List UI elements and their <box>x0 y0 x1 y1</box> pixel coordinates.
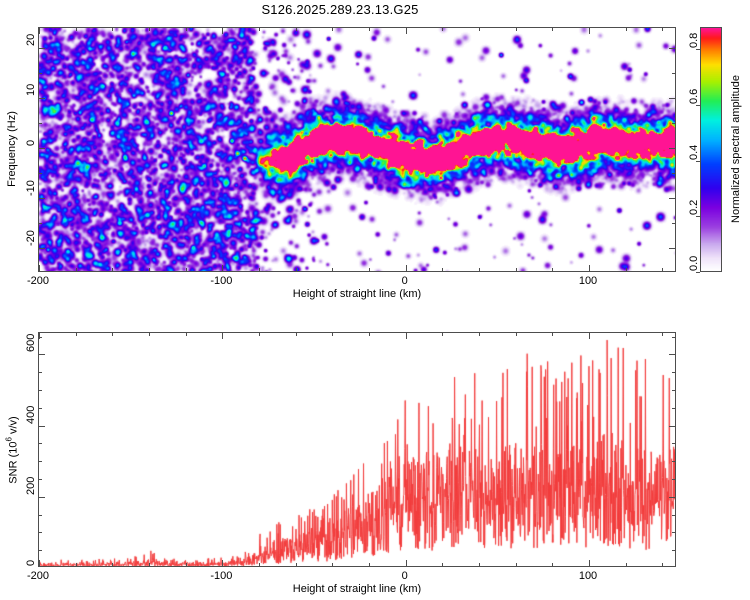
snr-y-axis-title-prefix: SNR (10 <box>7 442 19 484</box>
spectrogram-canvas <box>39 28 676 272</box>
snr-x-tick-label: 100 <box>579 570 597 582</box>
snr-x-tick-label: -200 <box>27 570 49 582</box>
spectrogram-x-tick-label: 0 <box>402 275 408 287</box>
figure-root: S126.2025.289.23.13.G25 -200-1000100 -20… <box>0 0 750 600</box>
figure-title: S126.2025.289.23.13.G25 <box>0 2 680 17</box>
spectrogram-x-axis-title: Height of straight line (km) <box>293 288 421 300</box>
snr-y-axis-title-exponent: 6 <box>5 437 14 441</box>
spectrogram-x-tick-label: -100 <box>210 275 232 287</box>
colorbar <box>700 27 722 272</box>
colorbar-tick <box>696 216 700 217</box>
snr-x-tick-label: 0 <box>402 570 408 582</box>
spectrogram-panel <box>38 27 676 272</box>
colorbar-tick <box>696 161 700 162</box>
spectrogram-x-tick-label: -200 <box>27 275 49 287</box>
snr-y-axis-title: SNR (106 v/v) <box>5 416 20 483</box>
colorbar-tick <box>696 272 700 273</box>
colorbar-title: Normalized spectral amplitude <box>730 75 742 223</box>
spectrogram-x-tick-label: 100 <box>579 275 597 287</box>
spectrogram-y-axis-title: Frequency (Hz) <box>6 111 18 187</box>
snr-x-axis-title: Height of straight line (km) <box>293 583 421 595</box>
snr-y-axis-title-suffix: v/v) <box>7 416 19 437</box>
snr-panel <box>38 332 676 567</box>
snr-canvas <box>39 333 676 567</box>
colorbar-tick <box>696 49 700 50</box>
snr-x-tick-label: -100 <box>210 570 232 582</box>
colorbar-gradient <box>701 28 721 271</box>
colorbar-tick <box>696 105 700 106</box>
